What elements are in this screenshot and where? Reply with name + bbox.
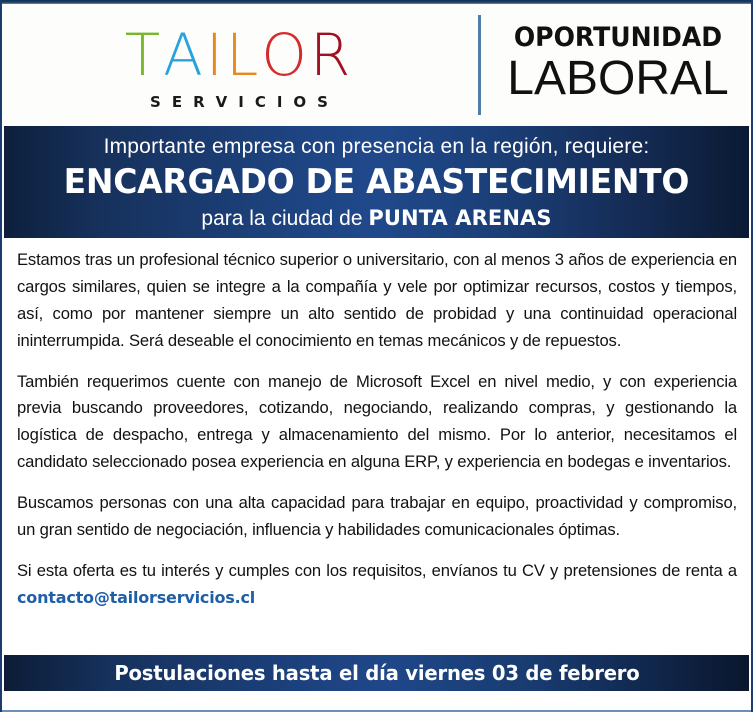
- banner-intro-text: Importante empresa con presencia en la r…: [104, 135, 650, 159]
- paragraph-skills: Buscamos personas con una alta capacidad…: [17, 490, 737, 544]
- deadline-footer-bar: Postulaciones hasta el día viernes 03 de…: [4, 655, 749, 691]
- company-logo: TAILOR SERVICIOS: [4, 20, 474, 111]
- job-description-body: Estamos tras un profesional técnico supe…: [4, 238, 749, 654]
- banner-city-line: para la ciudad de PUNTA ARENAS: [201, 206, 551, 231]
- heading-line-laboral: LABORAL: [507, 54, 728, 104]
- logo-letter-t: T: [125, 26, 163, 84]
- heading-line-oportunidad: OPORTUNIDAD: [514, 24, 722, 52]
- paragraph-profile: Estamos tras un profesional técnico supe…: [17, 247, 737, 355]
- banner-city-prefix: para la ciudad de: [201, 207, 368, 230]
- job-title-banner: Importante empresa con presencia en la r…: [4, 126, 749, 238]
- logo-tagline: SERVICIOS: [139, 93, 339, 111]
- banner-city-name: PUNTA ARENAS: [368, 206, 551, 230]
- logo-letter-a: A: [163, 26, 206, 84]
- banner-job-title: ENCARGADO DE ABASTECIMIENTO: [64, 162, 689, 202]
- paragraph-apply: Si esta oferta es tu interés y cumples c…: [17, 558, 737, 612]
- contact-email-link[interactable]: contacto@tailorservicios.cl: [17, 588, 255, 607]
- bottom-white-strip: [4, 691, 749, 712]
- job-posting-flyer: TAILOR SERVICIOS OPORTUNIDAD LABORAL Imp…: [0, 0, 753, 712]
- header-heading: OPORTUNIDAD LABORAL: [481, 24, 749, 107]
- logo-letter-r: R: [310, 26, 353, 84]
- logo-letter-l: L: [226, 26, 261, 84]
- apply-instructions-text: Si esta oferta es tu interés y cumples c…: [17, 561, 737, 580]
- logo-wordmark: TAILOR: [125, 26, 354, 84]
- logo-letter-i: I: [206, 26, 226, 84]
- logo-letter-o: O: [261, 26, 310, 84]
- header: TAILOR SERVICIOS OPORTUNIDAD LABORAL: [4, 4, 749, 126]
- paragraph-requirements: También requerimos cuente con manejo de …: [17, 369, 737, 477]
- deadline-text: Postulaciones hasta el día viernes 03 de…: [114, 661, 639, 685]
